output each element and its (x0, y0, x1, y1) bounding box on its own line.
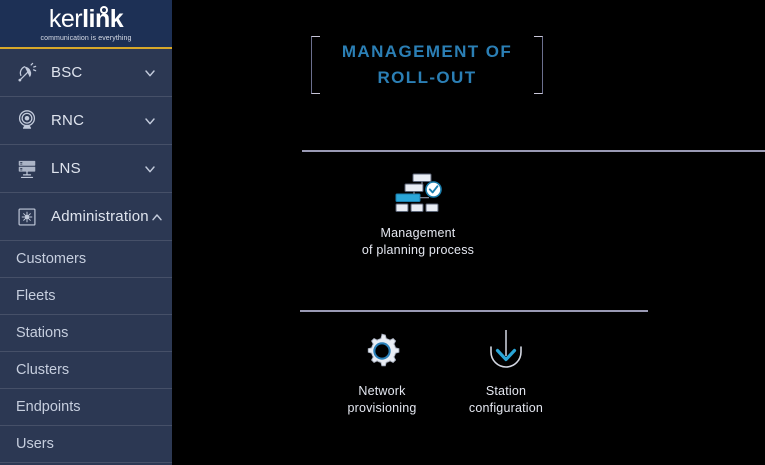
chevron-up-icon[interactable] (149, 209, 165, 225)
sidebar-item-users[interactable]: Users (0, 426, 172, 463)
sidebar-item-label: BSC (51, 64, 142, 81)
gear-icon (359, 328, 405, 374)
sidebar-item-administration[interactable]: Administration (0, 193, 172, 241)
logo-dot-icon (100, 6, 108, 14)
sidebar-subitem-label: Fleets (16, 288, 56, 304)
satellite-dish-icon (14, 60, 40, 86)
sidebar-item-stations[interactable]: Stations (0, 315, 172, 352)
sidebar-item-label: RNC (51, 112, 142, 129)
sidebar-subitem-label: Users (16, 436, 54, 452)
radio-tower-icon (14, 108, 40, 134)
sidebar-item-label: LNS (51, 160, 142, 177)
sidebar-item-label: Administration (51, 208, 149, 225)
main-content: MANAGEMENT OF ROLL-OUT Management of pla… (172, 0, 765, 465)
sidebar-item-clusters[interactable]: Clusters (0, 352, 172, 389)
page-title-block: MANAGEMENT OF ROLL-OUT (311, 30, 543, 100)
chevron-down-icon[interactable] (142, 113, 158, 129)
gantt-chart-check-icon (392, 172, 444, 216)
settings-grid-icon (14, 204, 40, 230)
section-divider-top (302, 150, 765, 152)
tile-station-configuration[interactable]: Station configuration (446, 328, 566, 417)
sidebar-subitem-label: Endpoints (16, 399, 81, 415)
sidebar-item-bsc[interactable]: BSC (0, 49, 172, 97)
bracket-right-decoration (534, 36, 543, 94)
logo-text-light: ker (49, 5, 82, 33)
chevron-down-icon[interactable] (142, 65, 158, 81)
sidebar: kerlink communication is everything BSC (0, 0, 172, 465)
bracket-left-decoration (311, 36, 320, 94)
sidebar-item-rnc[interactable]: RNC (0, 97, 172, 145)
server-rack-icon (14, 156, 40, 182)
sidebar-item-customers[interactable]: Customers (0, 241, 172, 278)
logo-tagline: communication is everything (40, 35, 131, 42)
section-divider-bottom (300, 310, 648, 312)
sidebar-subitem-label: Stations (16, 325, 68, 341)
sidebar-subitem-label: Customers (16, 251, 86, 267)
sidebar-item-lns[interactable]: LNS (0, 145, 172, 193)
tile-label: Station configuration (469, 383, 543, 417)
download-install-icon (484, 328, 528, 374)
logo-wordmark: kerlink (49, 7, 123, 32)
tile-management-of-planning-process[interactable]: Management of planning process (344, 172, 492, 259)
tile-network-provisioning[interactable]: Network provisioning (324, 328, 440, 417)
page-title: MANAGEMENT OF ROLL-OUT (311, 39, 543, 92)
sidebar-item-endpoints[interactable]: Endpoints (0, 389, 172, 426)
tile-label: Management of planning process (362, 225, 474, 259)
application-root: kerlink communication is everything BSC (0, 0, 765, 465)
sidebar-subitem-label: Clusters (16, 362, 69, 378)
tile-label: Network provisioning (347, 383, 416, 417)
logo-wrap: kerlink communication is everything (40, 5, 131, 42)
chevron-down-icon[interactable] (142, 161, 158, 177)
sidebar-item-fleets[interactable]: Fleets (0, 278, 172, 315)
brand-logo[interactable]: kerlink communication is everything (0, 0, 172, 49)
